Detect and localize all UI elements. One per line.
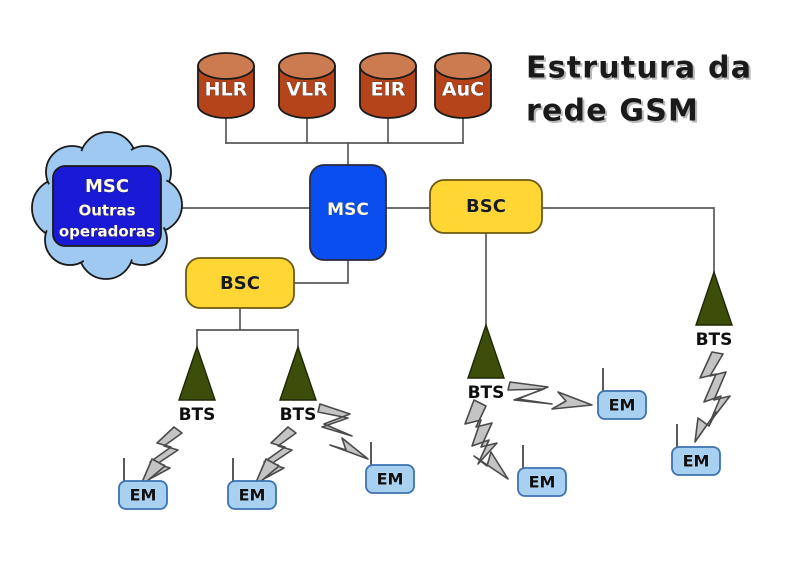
bsc-left-label: BSC: [220, 273, 260, 294]
database-auc[interactable]: AuC: [435, 53, 491, 118]
radio-link-bts4-em6: [695, 352, 730, 442]
title-line1: Estrutura da: [526, 51, 752, 86]
database-hlr-label: HLR: [205, 79, 248, 101]
database-group: HLR VLR EIR AuC: [198, 53, 491, 118]
bts-1-antenna-icon[interactable]: [179, 347, 215, 400]
cloud-msc-label: MSC: [85, 176, 129, 197]
lightning-arrowhead-icon: [552, 392, 592, 409]
radio-link-bts1-em1: [140, 427, 182, 487]
radio-link-bts2-em3: [318, 404, 368, 459]
em-5-node[interactable]: EM: [598, 368, 646, 419]
bts-1-node[interactable]: BTS: [179, 347, 216, 425]
line-msc-to-bsc-left: [294, 260, 348, 283]
em-4-node[interactable]: EM: [518, 445, 566, 496]
em-4-label: EM: [529, 473, 556, 492]
radio-link-bts3-em5: [508, 382, 592, 409]
other-operators-cloud[interactable]: MSC Outras operadoras: [32, 132, 182, 279]
line-bsc-right-to-bts4: [542, 208, 714, 272]
msc-center-label: MSC: [327, 200, 369, 220]
title-line2: rede GSM: [526, 94, 699, 129]
em-5-label: EM: [609, 396, 636, 415]
msc-center-node[interactable]: MSC: [310, 165, 386, 260]
cloud-sub-label-1: Outras: [78, 202, 135, 220]
bsc-right-label: BSC: [466, 196, 506, 217]
cloud-sub-label-2: operadoras: [59, 223, 155, 241]
em-1-label: EM: [130, 486, 157, 505]
bts-4-node[interactable]: BTS: [696, 272, 733, 350]
lightning-bolt-icon: [318, 404, 352, 436]
database-eir-label: EIR: [371, 79, 406, 101]
database-auc-label: AuC: [442, 79, 484, 101]
bts-4-antenna-icon[interactable]: [696, 272, 732, 325]
lightning-arrowhead-icon: [474, 452, 508, 479]
em-3-label: EM: [377, 470, 404, 489]
bts-3-node[interactable]: BTS: [468, 325, 505, 403]
diagram-canvas: HLR VLR EIR AuC Estrutura da: [0, 0, 800, 566]
bts-2-label: BTS: [280, 405, 317, 425]
database-vlr-label: VLR: [286, 79, 328, 101]
bts-2-node[interactable]: BTS: [280, 347, 317, 425]
lightning-arrowhead-icon: [695, 412, 716, 442]
lightning-bolt-icon: [508, 382, 552, 404]
bsc-left-node[interactable]: BSC: [186, 258, 294, 308]
diagram-title: Estrutura da Estrutura da rede GSM rede …: [526, 51, 754, 131]
em-3-node[interactable]: EM: [366, 442, 414, 493]
bts-1-label: BTS: [179, 405, 216, 425]
radio-link-bts2-em2: [254, 427, 296, 487]
bts-3-antenna-icon[interactable]: [468, 325, 504, 378]
radio-link-bts3-em4: [465, 400, 508, 479]
database-eir[interactable]: EIR: [360, 53, 416, 118]
database-hlr[interactable]: HLR: [198, 53, 254, 118]
bts-4-label: BTS: [696, 330, 733, 350]
database-vlr[interactable]: VLR: [279, 53, 335, 118]
em-2-label: EM: [239, 486, 266, 505]
lightning-bolt-icon: [700, 352, 730, 422]
em-6-label: EM: [683, 452, 710, 471]
bsc-right-node[interactable]: BSC: [430, 180, 542, 233]
bts-2-antenna-icon[interactable]: [280, 347, 316, 400]
lightning-arrowhead-icon: [330, 438, 368, 459]
bts-3-label: BTS: [468, 383, 505, 403]
gsm-network-diagram: HLR VLR EIR AuC Estrutura da: [0, 0, 800, 566]
